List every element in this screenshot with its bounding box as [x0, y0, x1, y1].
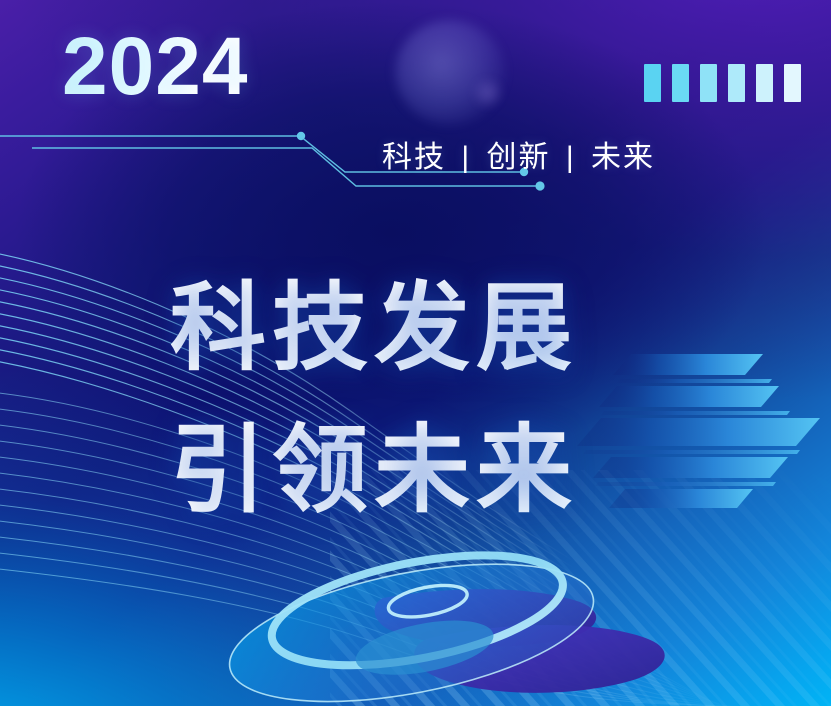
subtitle-part-2: 创新: [486, 141, 550, 174]
subtitle-text: 科技 | 创新 | 未来: [382, 132, 655, 176]
dash-mark-1: [644, 64, 661, 102]
year-label: 2024: [62, 26, 248, 108]
poster-canvas: 2024 科技 | 创新 | 未来 科技发展 引领未来: [0, 0, 831, 706]
dash-mark-6: [784, 64, 801, 102]
headline-line-1: 科技发展: [170, 258, 578, 400]
dash-mark-5: [756, 64, 773, 102]
dash-mark-2: [672, 64, 689, 102]
headline-block: 科技发展 引领未来: [170, 258, 578, 542]
dash-mark-3: [700, 64, 717, 102]
subtitle-part-1: 科技: [382, 141, 446, 174]
headline-line-2: 引领未来: [170, 400, 578, 542]
dash-mark-4: [728, 64, 745, 102]
dash-marks-group: [644, 64, 801, 102]
subtitle-separator-1: |: [456, 141, 476, 174]
subtitle-part-3: 未来: [591, 141, 655, 174]
subtitle-separator-2: |: [561, 141, 581, 174]
